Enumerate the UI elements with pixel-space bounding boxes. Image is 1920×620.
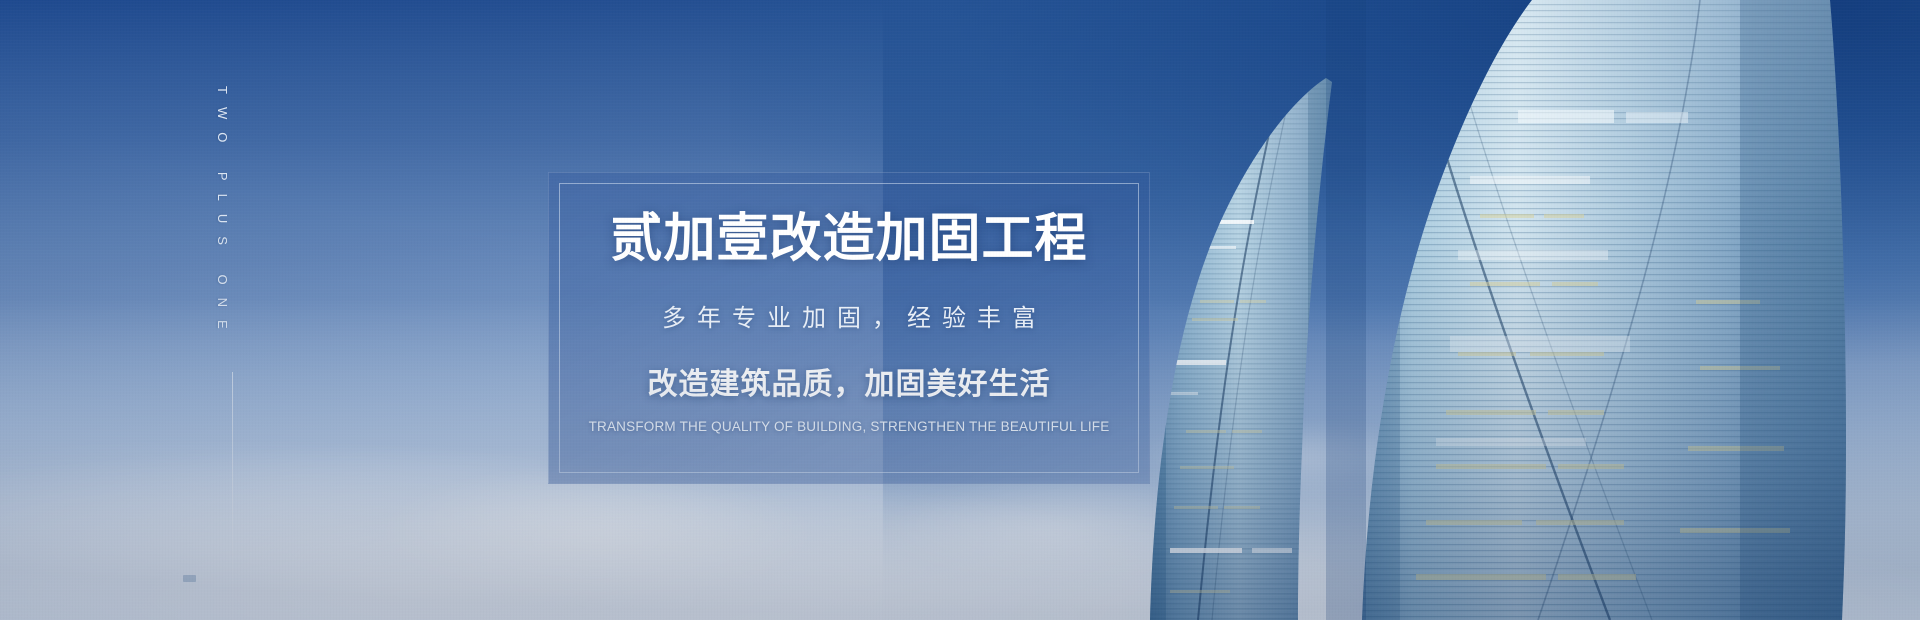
vignette-overlay xyxy=(0,0,1920,620)
hero-banner: TWO PLUS ONE 贰加壹改造加固工程 多年专业加固，经验丰富 改造建筑品… xyxy=(0,0,1920,620)
